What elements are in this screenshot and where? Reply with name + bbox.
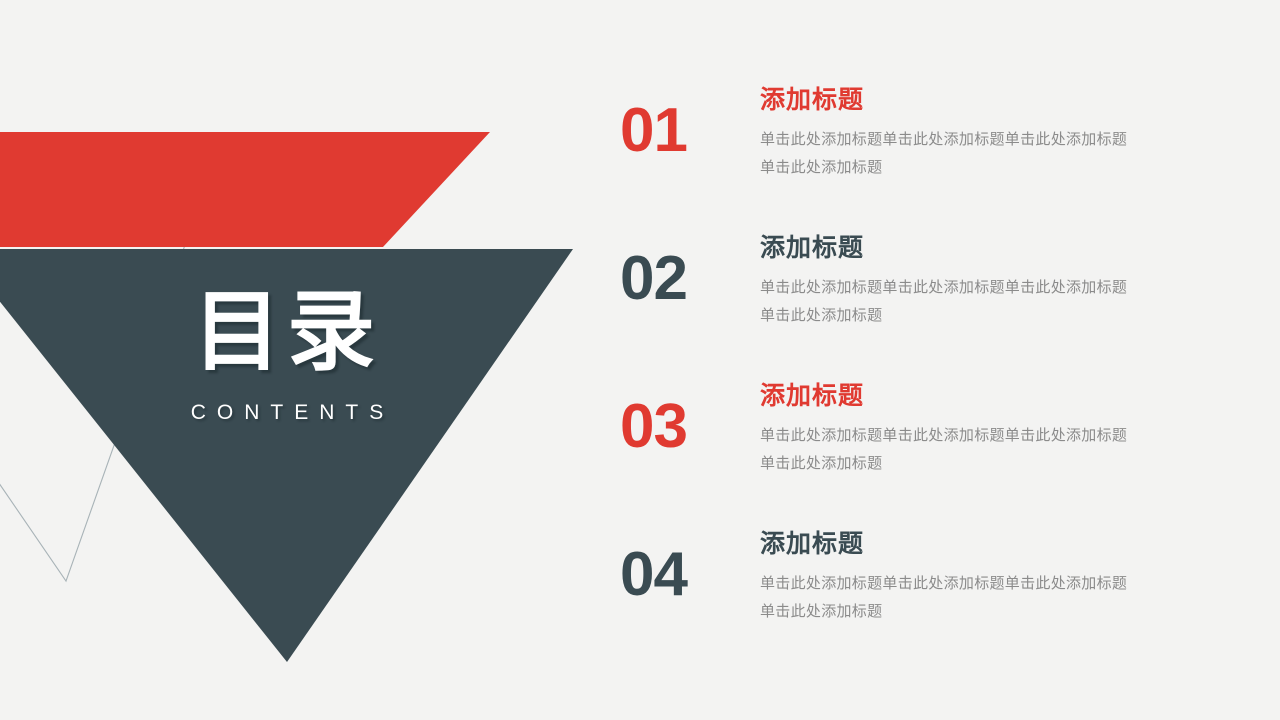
agenda-title-04: 添加标题 <box>760 530 1160 559</box>
agenda-number-04: 04 <box>620 544 740 606</box>
agenda-description-04: 单击此处添加标题单击此处添加标题单击此处添加标题单击此处添加标题 <box>760 570 1138 626</box>
agenda-number-01: 01 <box>620 100 740 162</box>
agenda-body-03: 添加标题 单击此处添加标题单击此处添加标题单击此处添加标题单击此处添加标题 <box>760 382 1160 477</box>
presentation-slide: 目录 CONTENTS 01 添加标题 单击此处添加标题单击此处添加标题单击此处… <box>0 0 1280 720</box>
agenda-item-03[interactable]: 03 添加标题 单击此处添加标题单击此处添加标题单击此处添加标题单击此处添加标题 <box>620 382 1220 530</box>
agenda-title-03: 添加标题 <box>760 382 1160 411</box>
agenda-title-01: 添加标题 <box>760 86 1160 115</box>
agenda-title-02: 添加标题 <box>760 234 1160 263</box>
decorative-artwork <box>0 0 640 720</box>
agenda-item-04[interactable]: 04 添加标题 单击此处添加标题单击此处添加标题单击此处添加标题单击此处添加标题 <box>620 530 1220 678</box>
dark-triangle-shape <box>0 249 573 662</box>
agenda-body-01: 添加标题 单击此处添加标题单击此处添加标题单击此处添加标题单击此处添加标题 <box>760 86 1160 181</box>
agenda-list: 01 添加标题 单击此处添加标题单击此处添加标题单击此处添加标题单击此处添加标题… <box>620 86 1220 678</box>
agenda-description-01: 单击此处添加标题单击此处添加标题单击此处添加标题单击此处添加标题 <box>760 126 1138 182</box>
agenda-item-01[interactable]: 01 添加标题 单击此处添加标题单击此处添加标题单击此处添加标题单击此处添加标题 <box>620 86 1220 234</box>
agenda-item-02[interactable]: 02 添加标题 单击此处添加标题单击此处添加标题单击此处添加标题单击此处添加标题 <box>620 234 1220 382</box>
agenda-description-02: 单击此处添加标题单击此处添加标题单击此处添加标题单击此处添加标题 <box>760 274 1138 330</box>
agenda-number-02: 02 <box>620 248 740 310</box>
agenda-body-04: 添加标题 单击此处添加标题单击此处添加标题单击此处添加标题单击此处添加标题 <box>760 530 1160 625</box>
agenda-body-02: 添加标题 单击此处添加标题单击此处添加标题单击此处添加标题单击此处添加标题 <box>760 234 1160 329</box>
agenda-description-03: 单击此处添加标题单击此处添加标题单击此处添加标题单击此处添加标题 <box>760 422 1138 478</box>
agenda-number-03: 03 <box>620 396 740 458</box>
